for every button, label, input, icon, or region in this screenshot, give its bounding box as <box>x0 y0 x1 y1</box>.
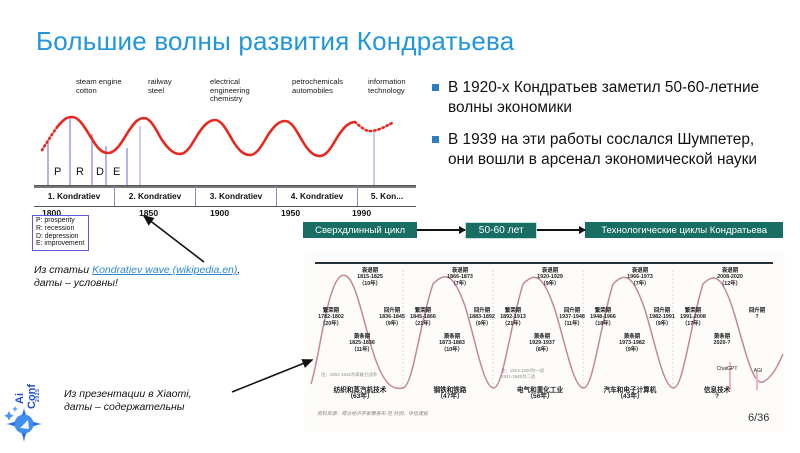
cycle5-recession: 衰退期 2008-2020 （12年） <box>699 268 761 287</box>
phase-marker-group: P R D E <box>34 166 274 186</box>
cycle5-depression: 萧条期 2020-? <box>693 334 751 347</box>
chinese-cycles-diagram: 繁荣期 1782-1802 （20年） 衰退期 1815-1825 （10年） … <box>305 250 785 432</box>
cycle5-prosperity: 繁荣期 1991-2008 （17年） <box>665 308 721 327</box>
cycle3-note: 注：1913-1920为一战 1931-1945为二战 <box>501 368 587 381</box>
bullet-item-2: В 1939 на эти работы сослался Шумпетер, … <box>432 130 784 169</box>
bullet-square-icon <box>432 84 439 91</box>
tech-label-4: petrochemicalsautomobiles <box>292 78 343 95</box>
bullet-square-icon <box>432 136 439 143</box>
year-tick-1950: 1950 <box>281 208 300 218</box>
pointer-arrow-xiaomi <box>226 348 322 402</box>
phase-legend: P: prosperity R: recession D: depression… <box>32 215 89 251</box>
legend-recession: R: recession <box>36 225 84 233</box>
page-title: Большие волны развития Кондратьева <box>36 26 514 57</box>
pointer-arrow-wiki <box>120 210 240 270</box>
cycle5-recovery: 回升期 ? <box>735 308 779 321</box>
cycle3-prosperity: 繁荣期 1892-1913 （21年） <box>485 308 541 327</box>
band-4: 4. Kondratiev <box>277 186 358 206</box>
cycle2-recession: 衰退期 1866-1873 （7年） <box>429 268 491 287</box>
annotation-agi: AGI <box>743 368 773 374</box>
banner-box-right: Технологические циклы Кондратьева <box>585 222 783 238</box>
logo-text-ai: Ai <box>14 393 26 404</box>
banner-arrow-1 <box>417 229 465 231</box>
bullet-item-1: В 1920-х Кондратьев заметил 50-60-летние… <box>432 78 784 117</box>
bullet-text-1: В 1920-х Кондратьев заметил 50-60-летние… <box>448 78 784 117</box>
page-number: 6/36 <box>748 412 769 424</box>
cycle4-prosperity: 繁荣期 1948-1966 （18年） <box>575 308 631 327</box>
slide-root: Большие волны развития Кондратьева steam… <box>0 0 800 450</box>
cycle3-industry: 电气和重化工业 （56年） <box>495 388 585 401</box>
cycle1-industry: 纺织和蒸汽机技术 （63年） <box>315 388 405 401</box>
cycle3-recession: 衰退期 1920-1929 （9年） <box>519 268 581 287</box>
band-3: 3. Kondratiev <box>196 186 277 206</box>
cycle1-note: 注：1802-1815为拿破仑战争 <box>321 372 407 378</box>
caption-wiki-prefix: Из статьи <box>34 264 92 276</box>
cycle4-depression: 萧条期 1973-1982 （9年） <box>603 334 661 353</box>
cycle1-depression: 萧条期 1825-1836 （11年） <box>333 334 391 353</box>
cycle3-depression: 萧条期 1929-1937 （8年） <box>513 334 571 353</box>
cycle1-recession: 衰退期 1815-1825 （10年） <box>339 268 401 287</box>
caption-xiaomi-line2: даты – содержательны <box>64 401 185 413</box>
bullet-list: В 1920-х Кондратьев заметил 50-60-летние… <box>432 78 784 182</box>
caption-wiki-line2: даты – условны! <box>34 277 118 289</box>
tech-label-2: railwaysteel <box>148 78 172 95</box>
phase-marker-P: P <box>54 166 61 178</box>
cycle-banner: Сверхдлинный цикл 50-60 лет Технологичес… <box>303 221 783 239</box>
legend-improvement: E: improvement <box>36 240 84 248</box>
cycle4-industry: 汽车和电子计算机 （43年） <box>585 388 675 401</box>
cycle2-depression: 萧条期 1873-1883 （10年） <box>423 334 481 353</box>
phase-marker-E: E <box>113 166 120 178</box>
year-tick-1990: 1990 <box>352 208 371 218</box>
cycle1-prosperity: 繁荣期 1782-1802 （20年） <box>303 308 359 327</box>
cycle4-recession: 衰退期 1966-1973 （7年） <box>609 268 671 287</box>
phase-marker-R: R <box>76 166 84 178</box>
caption-xiaomi-line1: Из презентации в Xiaomi, <box>64 388 192 400</box>
cycle2-industry: 钢铁和铁路 （47年） <box>405 388 495 401</box>
cycle2-prosperity: 繁荣期 1845-1866 （21年） <box>395 308 451 327</box>
banner-arrow-2 <box>537 229 585 231</box>
bullet-text-2: В 1939 на эти работы сослался Шумпетер, … <box>448 130 784 169</box>
legend-depression: D: depression <box>36 233 84 241</box>
legend-prosperity: P: prosperity <box>36 217 84 225</box>
tech-label-3: electricalengineeringchemistry <box>210 78 250 104</box>
aiconf-logo: Ai Conf 2025 <box>2 378 46 448</box>
banner-box-middle: 50-60 лет <box>465 222 537 239</box>
tech-label-5: informationtechnology <box>368 78 406 95</box>
band-5: 5. Kon... <box>358 186 416 206</box>
cycle5-industry: 信息技术 ? <box>677 388 757 401</box>
logo-text-year: 2025 <box>35 388 41 402</box>
phase-marker-D: D <box>96 166 104 178</box>
kondratiev-band-row: 1. Kondratiev 2. Kondratiev 3. Kondratie… <box>34 185 416 207</box>
tech-label-1: steam enginecotton <box>76 78 122 95</box>
band-2: 2. Kondratiev <box>115 186 196 206</box>
band-1: 1. Kondratiev <box>34 186 115 206</box>
diagram-source-note: 资料来源：荷兰经济学家雅各布·范·杜因、中信建投 <box>317 410 428 417</box>
banner-box-left: Сверхдлинный цикл <box>303 222 417 238</box>
